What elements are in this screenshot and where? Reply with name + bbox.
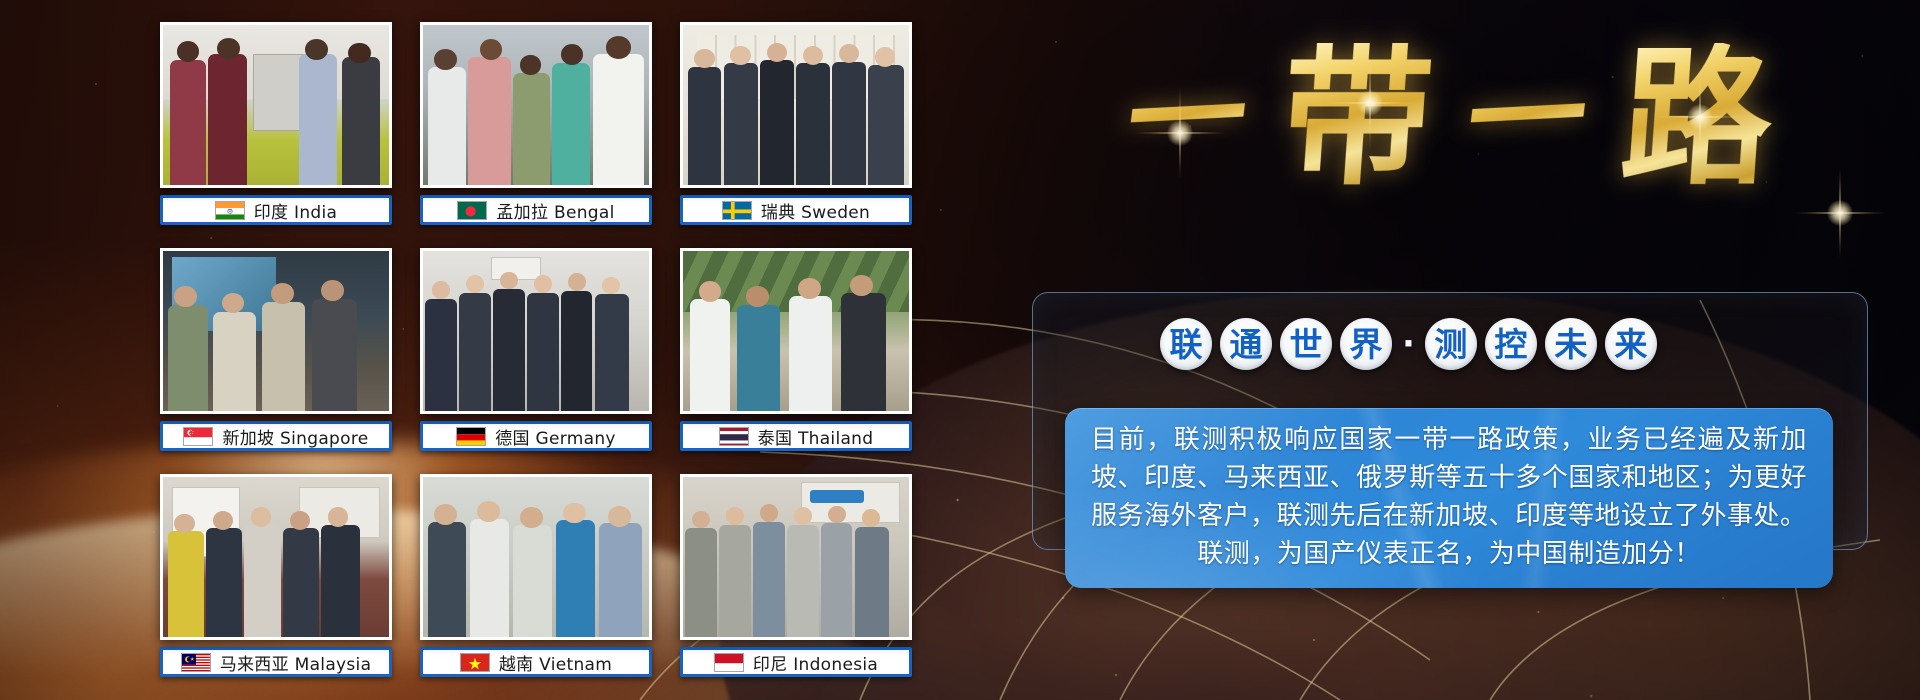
country-card-indonesia[interactable]: 印尼 Indonesia bbox=[680, 474, 912, 686]
country-label-text: 新加坡 Singapore bbox=[222, 424, 368, 449]
country-label: 马来西亚 Malaysia bbox=[160, 647, 392, 677]
banner-stage: 一 带 一 路 联 通 世 界 · 测 控 未 来 目前，联测积极响应国家一带一… bbox=[0, 0, 1920, 700]
country-label-text: 瑞典 Sweden bbox=[761, 198, 870, 223]
country-label: 孟加拉 Bengal bbox=[420, 195, 652, 225]
flag-icon-bd bbox=[457, 201, 487, 220]
country-label-text: 越南 Vietnam bbox=[499, 650, 612, 675]
country-label: 泰国 Thailand bbox=[680, 421, 912, 451]
country-photo[interactable] bbox=[160, 248, 392, 414]
country-photo[interactable] bbox=[680, 22, 912, 188]
country-label-text: 印度 India bbox=[254, 198, 338, 223]
slogan-char: 来 bbox=[1605, 318, 1657, 370]
country-photo[interactable] bbox=[160, 22, 392, 188]
country-photo[interactable] bbox=[680, 474, 912, 640]
country-label: 新加坡 Singapore bbox=[160, 421, 392, 451]
description-box: 目前，联测积极响应国家一带一路政策，业务已经遍及新加坡、印度、马来西亚、俄罗斯等… bbox=[1065, 408, 1833, 588]
country-label: 德国 Germany bbox=[420, 421, 652, 451]
flag-icon-de bbox=[456, 427, 486, 446]
description-paragraph-2: 联测，为国产仪表正名，为中国制造加分！ bbox=[1091, 535, 1807, 573]
flag-icon-in bbox=[215, 201, 245, 220]
flag-icon-se bbox=[722, 201, 752, 220]
calligraphy-char-4: 路 bbox=[1617, 43, 1778, 193]
description-paragraph-1: 目前，联测积极响应国家一带一路政策，业务已经遍及新加坡、印度、马来西亚、俄罗斯等… bbox=[1091, 421, 1807, 535]
flag-icon-sg bbox=[183, 427, 213, 446]
country-photo[interactable] bbox=[420, 474, 652, 640]
country-photo[interactable] bbox=[420, 22, 652, 188]
country-photo[interactable] bbox=[680, 248, 912, 414]
slogan-row: 联 通 世 界 · 测 控 未 来 bbox=[1160, 318, 1657, 370]
flag-icon-my bbox=[181, 653, 211, 672]
country-card-india[interactable]: 印度 India bbox=[160, 22, 392, 234]
slogan-char: 测 bbox=[1425, 318, 1477, 370]
slogan-char: 通 bbox=[1220, 318, 1272, 370]
country-label: 印尼 Indonesia bbox=[680, 647, 912, 677]
country-label-text: 泰国 Thailand bbox=[758, 424, 874, 449]
flag-icon-vn bbox=[460, 653, 490, 672]
flag-icon-th bbox=[719, 427, 749, 446]
slogan-char: 未 bbox=[1545, 318, 1597, 370]
country-photo[interactable] bbox=[160, 474, 392, 640]
country-label-text: 印尼 Indonesia bbox=[753, 650, 878, 675]
calligraphy-char-3: 一 bbox=[1460, 55, 1594, 179]
country-label-text: 德国 Germany bbox=[495, 424, 616, 449]
country-card-vietnam[interactable]: 越南 Vietnam bbox=[420, 474, 652, 686]
slogan-char: 界 bbox=[1340, 318, 1392, 370]
country-card-sweden[interactable]: 瑞典 Sweden bbox=[680, 22, 912, 234]
country-label-text: 孟加拉 Bengal bbox=[496, 198, 614, 223]
country-label: 越南 Vietnam bbox=[420, 647, 652, 677]
country-photo[interactable] bbox=[420, 248, 652, 414]
slogan-char: 控 bbox=[1485, 318, 1537, 370]
calligraphy-char-1: 一 bbox=[1120, 55, 1254, 179]
slogan-char: 联 bbox=[1160, 318, 1212, 370]
headline-calligraphy: 一 带 一 路 bbox=[1020, 10, 1880, 225]
country-label: 瑞典 Sweden bbox=[680, 195, 912, 225]
flag-icon-id bbox=[714, 653, 744, 672]
country-label-text: 马来西亚 Malaysia bbox=[220, 650, 372, 675]
country-card-thailand[interactable]: 泰国 Thailand bbox=[680, 248, 912, 460]
country-card-malaysia[interactable]: 马来西亚 Malaysia bbox=[160, 474, 392, 686]
country-photo-gallery: 印度 India 孟加拉 Bengal 瑞典 Sweden 新加坡 Singap… bbox=[160, 22, 912, 686]
country-card-germany[interactable]: 德国 Germany bbox=[420, 248, 652, 460]
calligraphy-char-2: 带 bbox=[1277, 43, 1438, 193]
country-label: 印度 India bbox=[160, 195, 392, 225]
slogan-char: 世 bbox=[1280, 318, 1332, 370]
slogan-separator: · bbox=[1400, 327, 1417, 361]
country-card-bengal[interactable]: 孟加拉 Bengal bbox=[420, 22, 652, 234]
country-card-singapore[interactable]: 新加坡 Singapore bbox=[160, 248, 392, 460]
